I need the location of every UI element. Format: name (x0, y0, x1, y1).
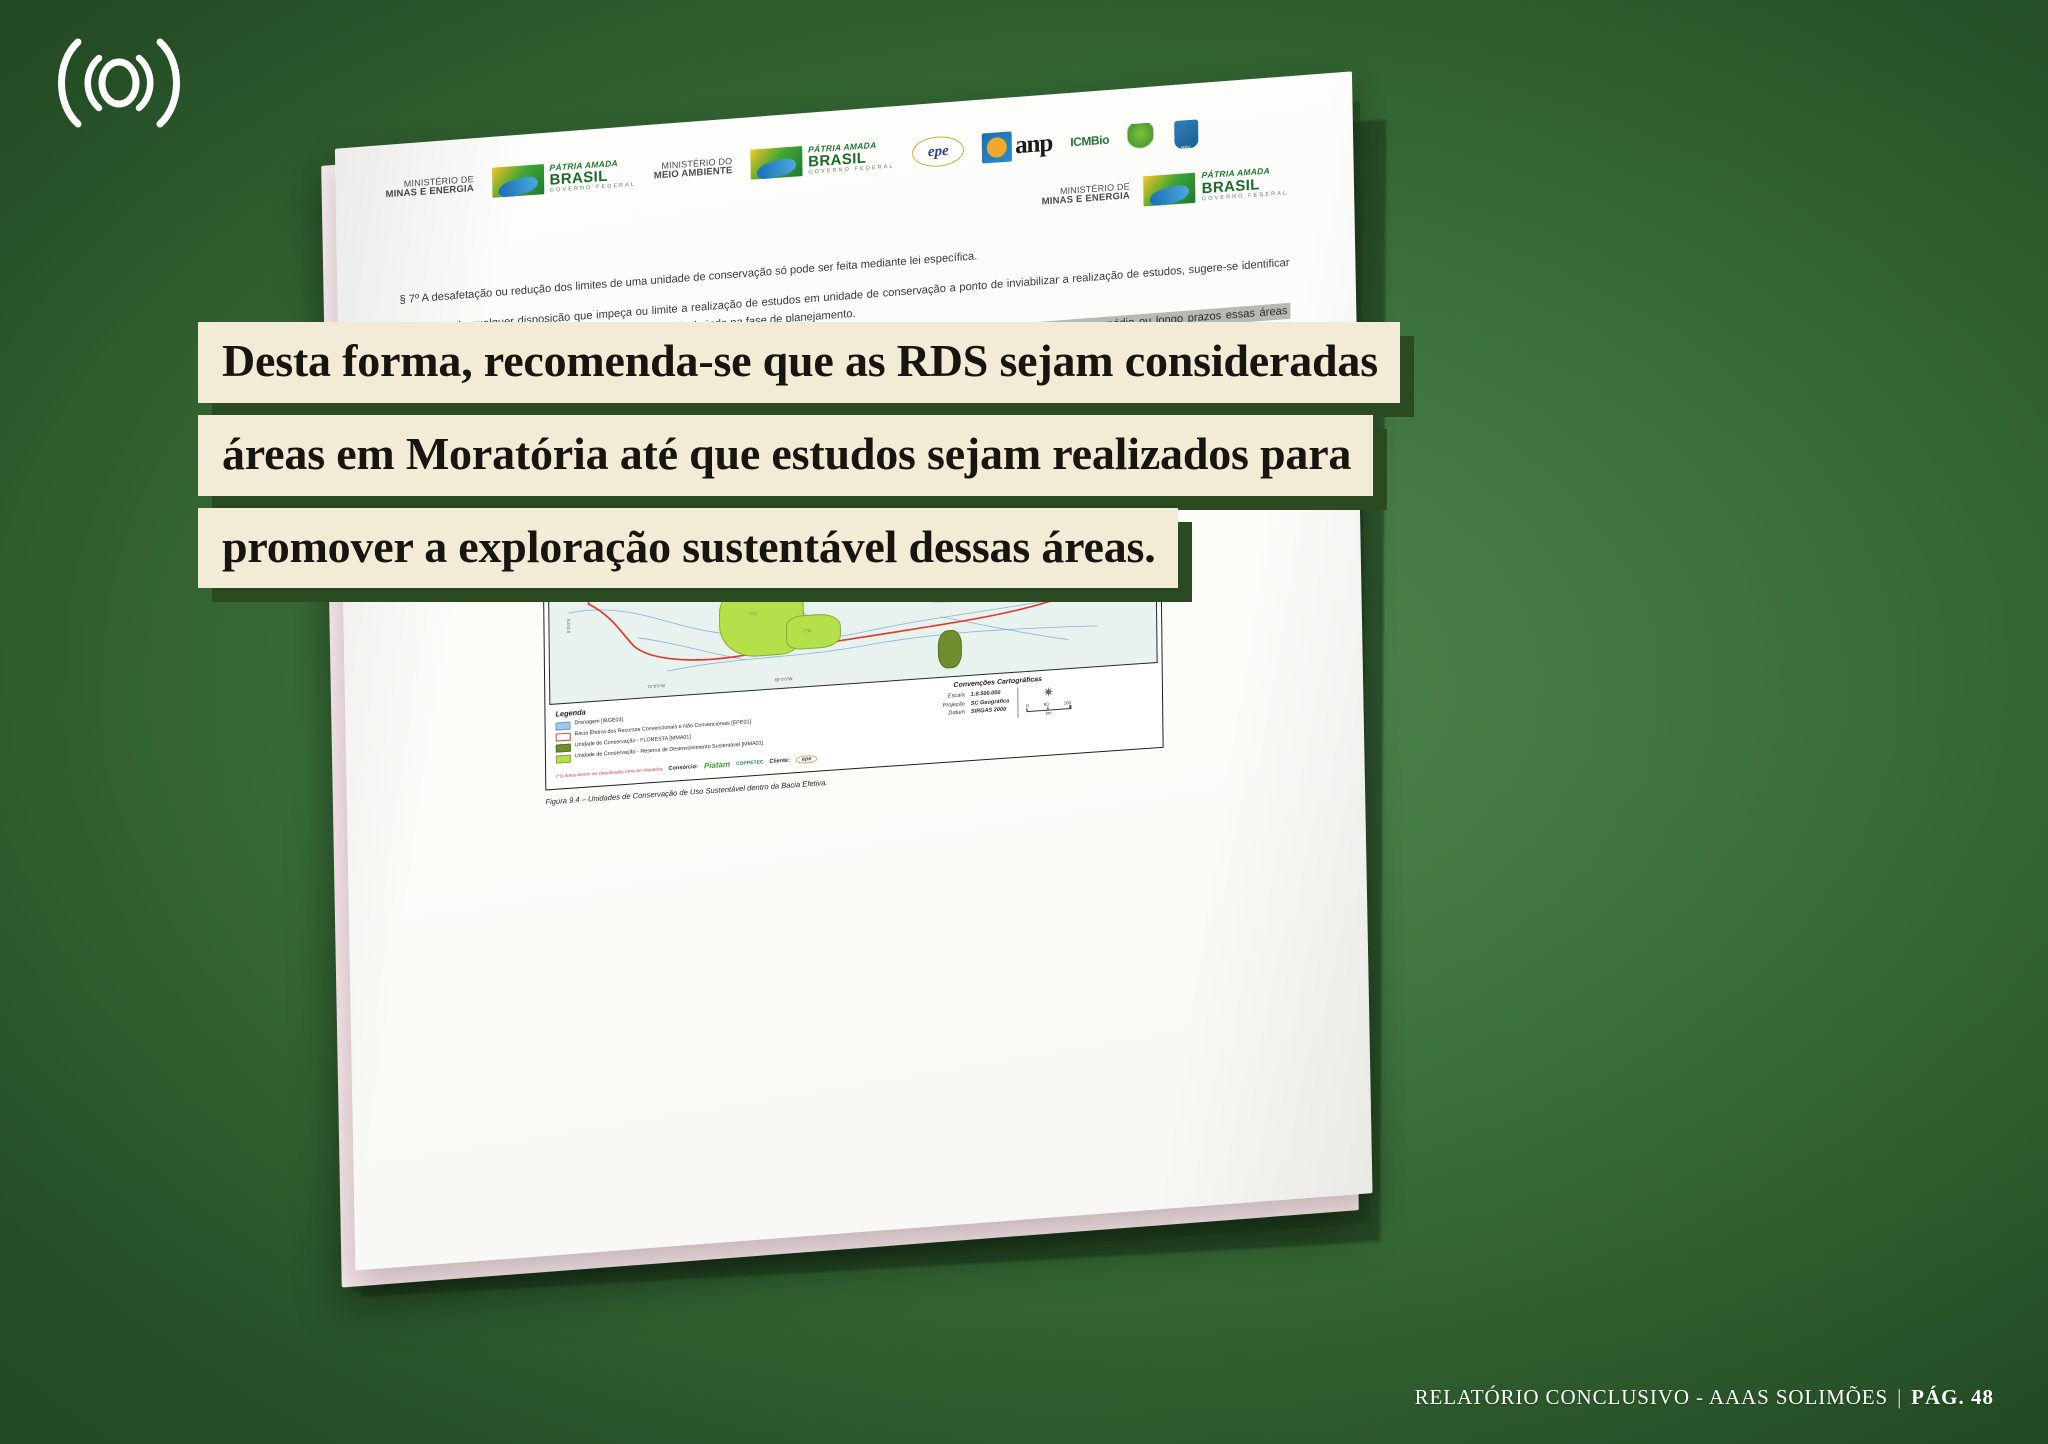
icmbio-wordmark: ICMBio (1070, 133, 1109, 150)
headline-row-3: promover a exploração sustentável dessas… (198, 508, 1448, 589)
headline-overlay: Desta forma, recomenda-se que as RDS sej… (198, 322, 1448, 600)
headline-row-2: áreas em Moratória até que estudos sejam… (198, 415, 1448, 496)
headline-line-2: áreas em Moratória até que estudos sejam… (198, 415, 1373, 496)
mma-wordmark: MMA (1171, 144, 1201, 150)
map-tick-lat-2: 5°0'0"S (566, 619, 571, 634)
brasil-flag-icon (492, 164, 544, 198)
headline-row-1: Desta forma, recomenda-se que as RDS sej… (198, 322, 1448, 403)
legend-label-drainage: Drenagem [IBGE03] (574, 717, 622, 727)
uc-forest-area-2 (938, 630, 963, 669)
map-label-moratoria-4: (*1) (804, 628, 811, 634)
footer-separator: | (1897, 1385, 1902, 1409)
uc-rds-area-4 (786, 613, 841, 650)
legend-swatch-forest (556, 743, 571, 752)
patria-amada-brasil-logo-2: PÁTRIA AMADA BRASIL GOVERNO FEDERAL (750, 139, 894, 180)
footer-page-number: PÁG. 48 (1911, 1385, 1994, 1409)
anp-logo: anp (982, 129, 1052, 164)
consorcio-label: Consórcio: (668, 764, 698, 772)
legend-swatch-rds (556, 754, 571, 763)
compass-and-scale: ✷ 0 80 160 km (1017, 684, 1071, 718)
cliente-label: Cliente: (769, 757, 790, 764)
report-page: MINISTÉRIO DE MINAS E ENERGIA PÁTRIA AMA… (335, 71, 1373, 1270)
document-stack: MINISTÉRIO DE MINAS E ENERGIA PÁTRIA AMA… (330, 128, 1350, 1248)
icmbio-tree-icon (1127, 123, 1153, 153)
headline-line-1: Desta forma, recomenda-se que as RDS sej… (198, 322, 1400, 403)
headline-line-3: promover a exploração sustentável dessas… (198, 508, 1178, 589)
legend-swatch-drainage (556, 721, 571, 730)
epe-badge-icon: epe (912, 135, 964, 169)
anp-wordmark: anp (1015, 134, 1052, 157)
convention-value-escala: 1:8.500.000 (971, 690, 1001, 698)
page-content: MINISTÉRIO DE MINAS E ENERGIA PÁTRIA AMA… (335, 71, 1373, 1270)
footer: RELATÓRIO CONCLUSIVO - AAAS SOLIMÕES|PÁG… (1415, 1385, 1994, 1410)
consorcio-piatam-logo: Piatam (704, 760, 730, 771)
ministerio-minas-energia-logo: MINISTÉRIO DE MINAS E ENERGIA (385, 174, 474, 201)
brasil-flag-icon-2 (750, 146, 802, 180)
mme-secondary-label: MINISTÉRIO DE MINAS E ENERGIA (1041, 181, 1130, 208)
epe-logo: epe (912, 135, 964, 169)
anp-mark-icon (982, 131, 1012, 163)
patria-amada-brasil-logo: PÁTRIA AMADA BRASIL GOVERNO FEDERAL (492, 157, 636, 198)
consorcio-coppetec-logo: COPPETEC (736, 759, 764, 767)
ministerio-meio-ambiente-logo: MINISTÉRIO DO MEIO AMBIENTE (654, 156, 733, 182)
broadcast-signal-icon (44, 28, 194, 138)
icmbio-logo: ICMBio (1070, 133, 1109, 150)
north-arrow-icon: ✷ (1026, 684, 1071, 700)
map-label-moratoria-3: (*1) (750, 611, 757, 617)
legend-swatch-basin (556, 732, 571, 741)
cliente-epe-logo: epe (796, 754, 818, 764)
convention-key-datum: Datum (925, 709, 965, 720)
figure-footnote: (*1) Áreas devem ser classificadas como … (556, 766, 662, 778)
footer-report-title: RELATÓRIO CONCLUSIVO - AAAS SOLIMÕES (1415, 1385, 1888, 1409)
scale-bar: 0 80 160 km (1026, 700, 1071, 717)
mma-logo: MMA (1171, 117, 1201, 151)
convention-value-datum: SIRGAS 2000 (971, 707, 1006, 715)
conventions-table: Escala1:8.500.000 ProjeçãoSC Geográfica … (925, 688, 1010, 720)
brasil-flag-icon-3 (1144, 172, 1196, 206)
slide-canvas: MINISTÉRIO DE MINAS E ENERGIA PÁTRIA AMA… (0, 0, 2048, 1444)
